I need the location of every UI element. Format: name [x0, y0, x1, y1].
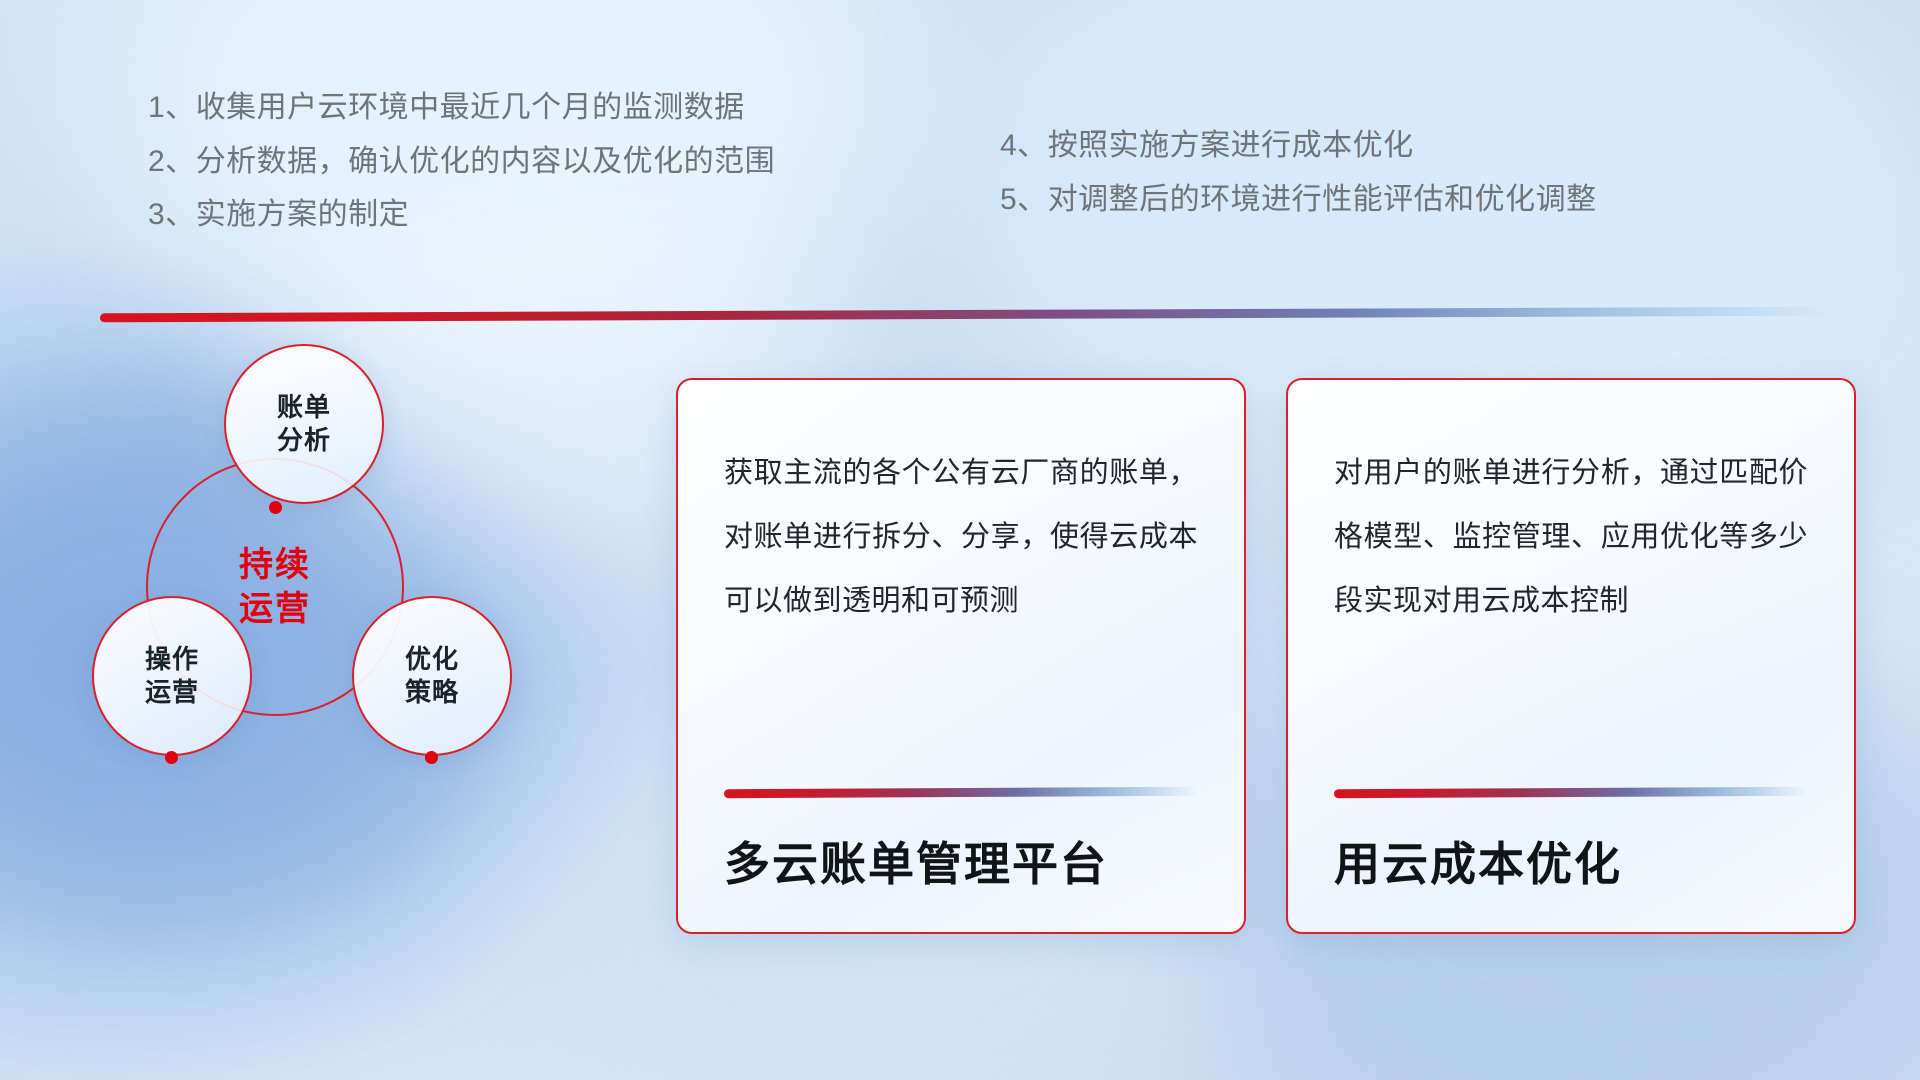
step-item-5: 5、 对调整后的环境进行性能评估和优化调整: [1000, 184, 1597, 216]
step-item-4: 4、 按照实施方案进行成本优化: [1000, 130, 1597, 162]
diagram-node-operations[interactable]: 操作 运营: [92, 596, 252, 756]
diagram-node-label-line1: 账单: [277, 392, 331, 422]
card-multicloud-billing-platform[interactable]: 获取主流的各个公有云厂商的账单，对账单进行拆分、分享，使得云成本可以做到透明和可…: [676, 378, 1246, 934]
steps-section: 1、 收集用户云环境中最近几个月的监测数据 2、 分析数据，确认优化的内容以及优…: [0, 92, 1920, 272]
continuous-operation-diagram: 账单 分析 操作 运营 优化 策略 持续 运营: [90, 352, 560, 822]
diagram-node-label-line1: 优化: [405, 644, 459, 674]
card-title: 用云成本优化: [1334, 837, 1808, 892]
diagram-node-label-line1: 操作: [145, 644, 199, 674]
diagram-node-label: 优化 策略: [405, 643, 459, 710]
diagram-node-optimization-strategy[interactable]: 优化 策略: [352, 596, 512, 756]
step-label: 按照实施方案进行成本优化: [1048, 130, 1414, 162]
step-label: 分析数据，确认优化的内容以及优化的范围: [196, 146, 776, 178]
step-number: 4、: [1000, 130, 1048, 162]
card-body-text: 获取主流的各个公有云厂商的账单，对账单进行拆分、分享，使得云成本可以做到透明和可…: [724, 442, 1198, 633]
diagram-connector-dot-top: [269, 501, 282, 514]
diagram-node-label: 操作 运营: [145, 643, 199, 710]
step-number: 1、: [148, 92, 196, 124]
step-number: 2、: [148, 146, 196, 178]
diagram-connector-dot-right: [425, 751, 438, 764]
step-number: 5、: [1000, 184, 1048, 216]
steps-column-right: 4、 按照实施方案进行成本优化 5、 对调整后的环境进行性能评估和优化调整: [1000, 130, 1597, 215]
card-divider-rule: [724, 787, 1198, 798]
step-label: 对调整后的环境进行性能评估和优化调整: [1048, 184, 1597, 216]
diagram-node-bill-analysis[interactable]: 账单 分析: [224, 344, 384, 504]
diagram-node-label: 账单 分析: [277, 391, 331, 458]
diagram-node-label-line2: 分析: [277, 425, 331, 455]
diagram-node-label-line2: 运营: [145, 677, 199, 707]
step-item-2: 2、 分析数据，确认优化的内容以及优化的范围: [148, 146, 775, 178]
section-divider-rule: [100, 307, 1830, 323]
card-cloud-cost-optimization[interactable]: 对用户的账单进行分析，通过匹配价格模型、监控管理、应用优化等多少段实现对用云成本…: [1286, 378, 1856, 934]
card-title: 多云账单管理平台: [724, 837, 1198, 892]
steps-column-left: 1、 收集用户云环境中最近几个月的监测数据 2、 分析数据，确认优化的内容以及优…: [148, 92, 775, 231]
card-divider-rule: [1334, 787, 1808, 798]
step-item-1: 1、 收集用户云环境中最近几个月的监测数据: [148, 92, 775, 124]
step-label: 实施方案的制定: [196, 199, 410, 231]
slide-canvas: 1、 收集用户云环境中最近几个月的监测数据 2、 分析数据，确认优化的内容以及优…: [0, 0, 1920, 1080]
step-item-3: 3、 实施方案的制定: [148, 199, 775, 231]
step-label: 收集用户云环境中最近几个月的监测数据: [196, 92, 745, 124]
card-body-text: 对用户的账单进行分析，通过匹配价格模型、监控管理、应用优化等多少段实现对用云成本…: [1334, 442, 1808, 633]
step-number: 3、: [148, 199, 196, 231]
diagram-node-label-line2: 策略: [405, 677, 459, 707]
diagram-connector-dot-left: [165, 751, 178, 764]
